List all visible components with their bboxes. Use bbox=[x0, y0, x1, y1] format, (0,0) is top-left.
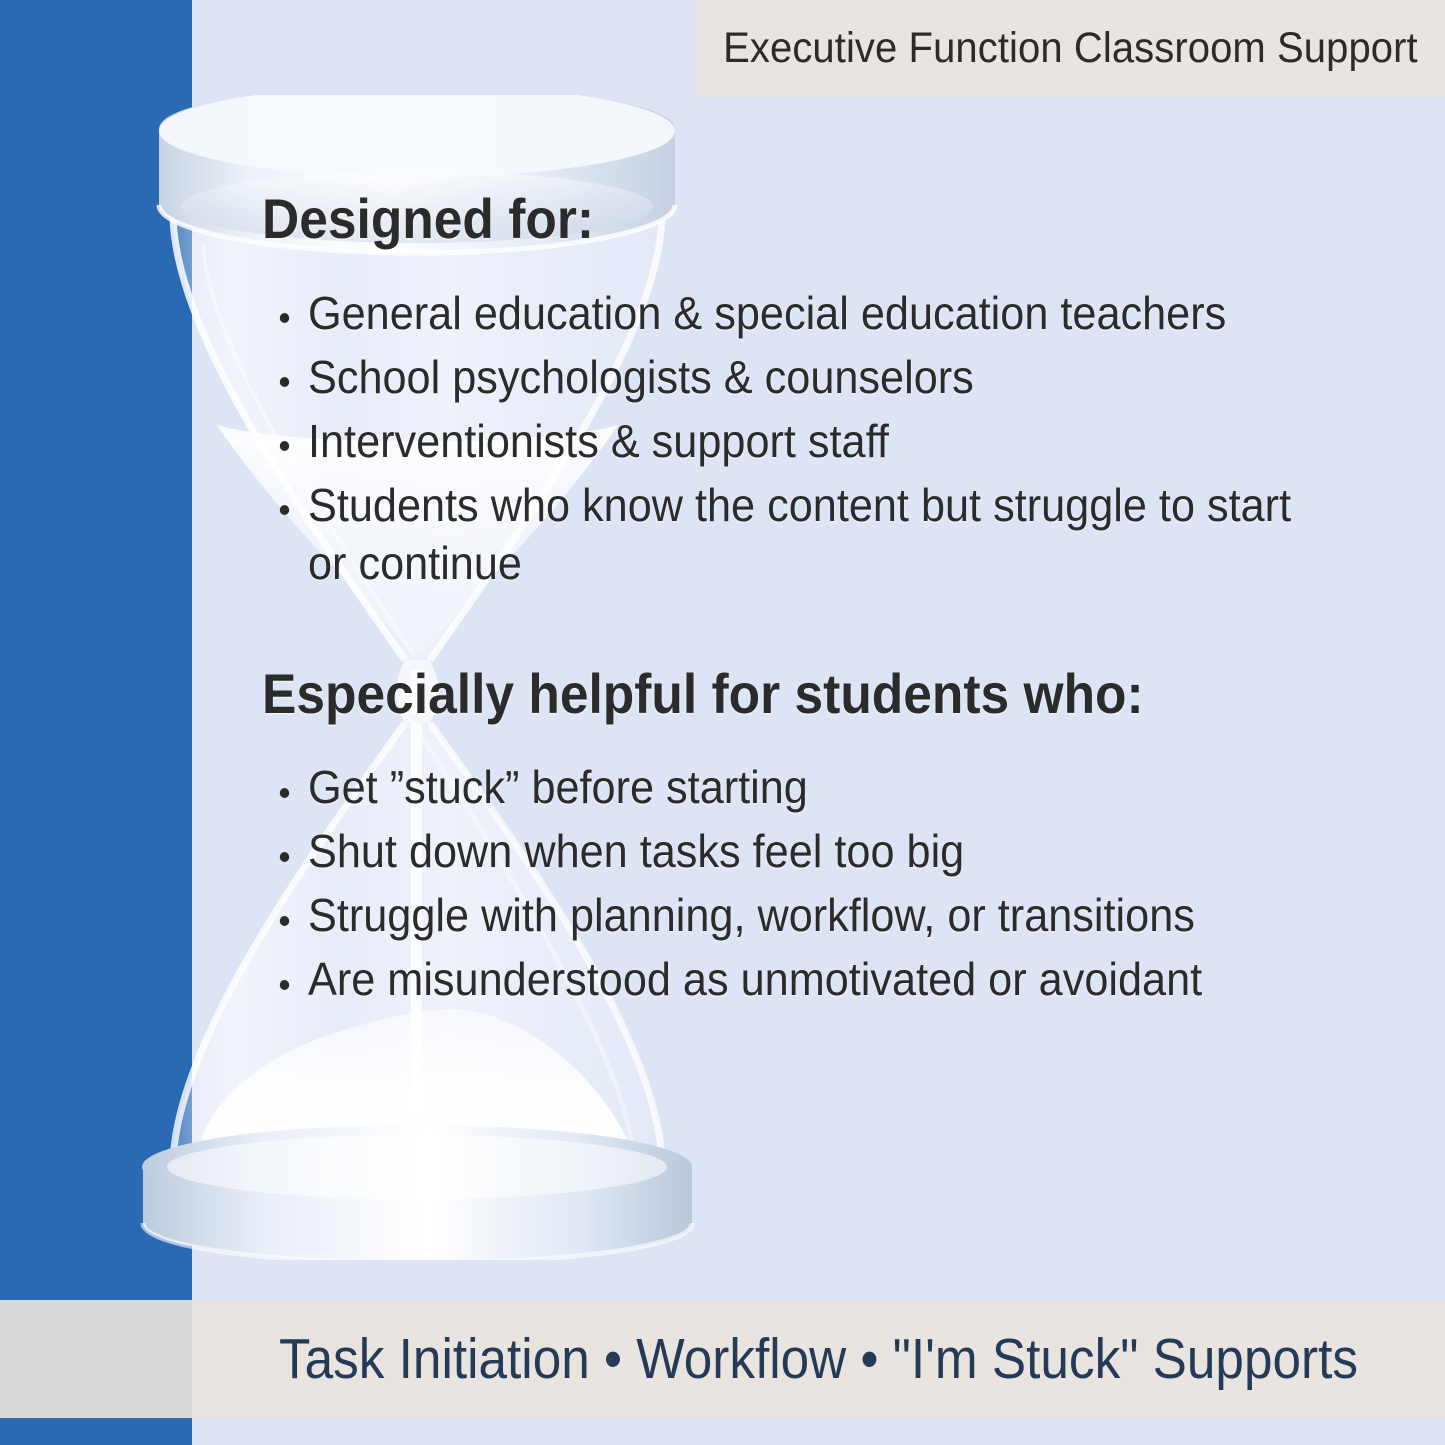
list-item-text: Interventionists & support staff bbox=[308, 415, 889, 467]
main-content: Designed for: General education & specia… bbox=[262, 190, 1392, 1015]
list-item-text: General education & special education te… bbox=[308, 287, 1226, 339]
footer-grey-block bbox=[0, 1300, 192, 1418]
list-item-text: Struggle with planning, workflow, or tra… bbox=[308, 889, 1195, 941]
list-item-text: Students who know the content but strugg… bbox=[308, 479, 1291, 589]
footer-tagline: Task Initiation • Workflow • "I'm Stuck"… bbox=[279, 1326, 1358, 1392]
footer-banner: Task Initiation • Workflow • "I'm Stuck"… bbox=[0, 1300, 1445, 1418]
list-item: Students who know the content but strugg… bbox=[308, 477, 1327, 593]
page-title: Executive Function Classroom Support bbox=[723, 24, 1418, 73]
list-item: Shut down when tasks feel too big bbox=[308, 823, 1327, 881]
list-item: School psychologists & counselors bbox=[308, 349, 1327, 407]
list-item: Struggle with planning, workflow, or tra… bbox=[308, 887, 1327, 945]
poster-canvas: Executive Function Classroom Support Des… bbox=[0, 0, 1445, 1445]
especially-helpful-list: Get ”stuck” before starting Shut down wh… bbox=[262, 759, 1392, 1009]
bullet-dot-icon bbox=[280, 505, 289, 515]
list-item-text: Are misunderstood as unmotivated or avoi… bbox=[308, 953, 1202, 1005]
bullet-dot-icon bbox=[280, 852, 289, 862]
list-item-text: School psychologists & counselors bbox=[308, 351, 974, 403]
bullet-dot-icon bbox=[280, 980, 289, 990]
section-one-heading: Designed for: bbox=[262, 190, 1302, 249]
bullet-dot-icon bbox=[280, 441, 289, 451]
bullet-dot-icon bbox=[280, 377, 289, 387]
section-two-heading: Especially helpful for students who: bbox=[262, 665, 1302, 724]
list-item-text: Get ”stuck” before starting bbox=[308, 761, 808, 813]
header-banner: Executive Function Classroom Support bbox=[695, 0, 1445, 97]
designed-for-list: General education & special education te… bbox=[262, 285, 1392, 593]
footer-beige-block: Task Initiation • Workflow • "I'm Stuck"… bbox=[192, 1300, 1445, 1418]
list-item: Interventionists & support staff bbox=[308, 413, 1327, 471]
section-spacer bbox=[262, 599, 1392, 665]
bullet-dot-icon bbox=[280, 788, 289, 798]
bullet-dot-icon bbox=[280, 916, 289, 926]
list-item: Get ”stuck” before starting bbox=[308, 759, 1327, 817]
list-item: General education & special education te… bbox=[308, 285, 1327, 343]
list-item: Are misunderstood as unmotivated or avoi… bbox=[308, 951, 1327, 1009]
bullet-dot-icon bbox=[280, 313, 289, 323]
list-item-text: Shut down when tasks feel too big bbox=[308, 825, 964, 877]
left-blue-rail bbox=[0, 0, 192, 1445]
